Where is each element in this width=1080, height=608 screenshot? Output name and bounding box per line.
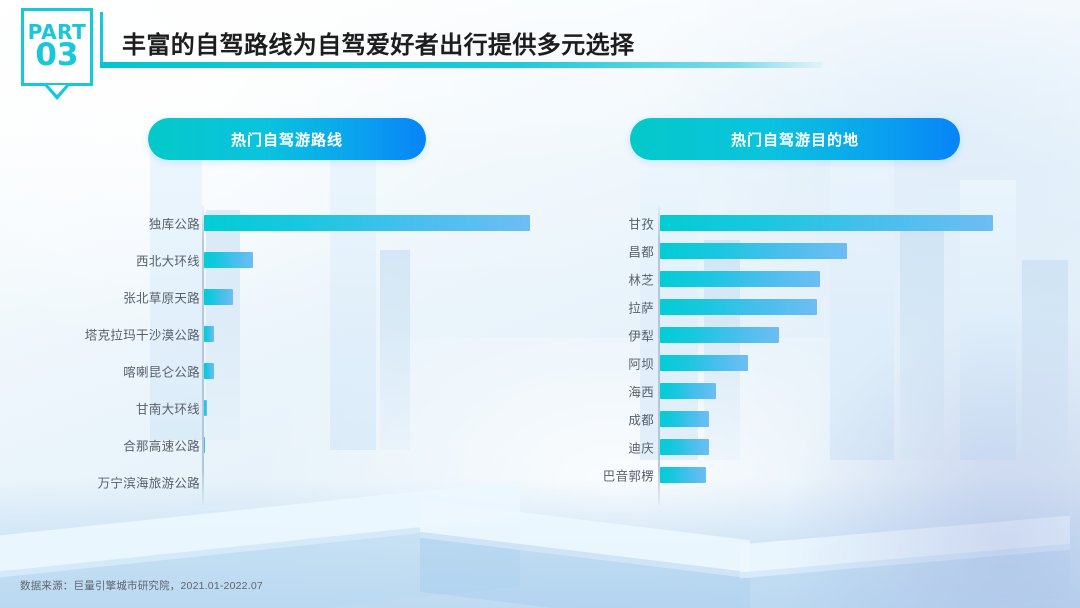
chart-row: 塔克拉玛干沙漠公路 xyxy=(60,326,540,342)
chart-row: 合那高速公路 xyxy=(60,437,540,453)
chart-row: 迪庆 xyxy=(558,439,1018,455)
chart-bar xyxy=(660,467,706,483)
chart-category-label: 甘孜 xyxy=(628,214,654,233)
chart-row: 甘孜 xyxy=(558,215,1018,231)
chart-row: 张北草原天路 xyxy=(60,289,540,305)
chart-bar xyxy=(204,400,207,416)
chart-bar xyxy=(660,383,716,399)
chart-row: 阿坝 xyxy=(558,355,1018,371)
part-badge-number: 03 xyxy=(35,40,78,71)
chart-category-label: 塔克拉玛干沙漠公路 xyxy=(85,325,200,344)
chart-bar xyxy=(660,355,748,371)
chart-bar xyxy=(204,289,233,305)
chart-row: 独库公路 xyxy=(60,215,540,231)
chart-popular-destinations: 甘孜昌都林芝拉萨伊犁阿坝海西成都迪庆巴音郭楞 xyxy=(558,205,1018,505)
chart-row: 成都 xyxy=(558,411,1018,427)
title-underline xyxy=(100,62,822,68)
chart-category-label: 拉萨 xyxy=(628,298,654,317)
chart-bar xyxy=(204,363,214,379)
chart-bar xyxy=(660,439,709,455)
section-header-destinations: 热门自驾游目的地 xyxy=(630,118,960,160)
chart-category-label: 巴音郭楞 xyxy=(603,466,654,485)
chart-category-label: 合那高速公路 xyxy=(123,436,200,455)
part-badge-pointer-inner-icon xyxy=(48,85,66,95)
chart-category-label: 昌都 xyxy=(628,242,654,261)
chart-category-label: 成都 xyxy=(628,410,654,429)
chart-bar xyxy=(660,271,820,287)
chart-category-label: 林芝 xyxy=(628,270,654,289)
chart-category-label: 万宁滨海旅游公路 xyxy=(98,473,200,492)
chart-bar xyxy=(204,252,253,268)
chart-axis-line xyxy=(202,205,204,505)
chart-row: 伊犁 xyxy=(558,327,1018,343)
chart-row: 拉萨 xyxy=(558,299,1018,315)
slide-canvas: PART 03 丰富的自驾路线为自驾爱好者出行提供多元选择 热门自驾游路线 热门… xyxy=(0,0,1080,608)
chart-bar xyxy=(660,243,847,259)
chart-row: 万宁滨海旅游公路 xyxy=(60,474,540,490)
chart-category-label: 海西 xyxy=(628,382,654,401)
chart-popular-routes: 独库公路西北大环线张北草原天路塔克拉玛干沙漠公路喀喇昆仑公路甘南大环线合那高速公… xyxy=(60,205,540,505)
chart-category-label: 甘南大环线 xyxy=(136,399,200,418)
chart-category-label: 喀喇昆仑公路 xyxy=(123,362,200,381)
chart-category-label: 独库公路 xyxy=(149,214,200,233)
title-left-rule xyxy=(100,12,103,64)
chart-row: 昌都 xyxy=(558,243,1018,259)
part-badge: PART 03 xyxy=(21,8,93,86)
page-title: 丰富的自驾路线为自驾爱好者出行提供多元选择 xyxy=(122,25,634,60)
data-source-note: 数据来源：巨量引擎城市研究院，2021.01-2022.07 xyxy=(20,578,263,593)
chart-row: 巴音郭楞 xyxy=(558,467,1018,483)
chart-category-label: 西北大环线 xyxy=(136,251,200,270)
section-header-routes: 热门自驾游路线 xyxy=(148,118,426,160)
chart-row: 喀喇昆仑公路 xyxy=(60,363,540,379)
chart-row: 海西 xyxy=(558,383,1018,399)
chart-bar xyxy=(660,299,817,315)
chart-bar xyxy=(204,215,530,231)
chart-bar xyxy=(204,437,205,453)
chart-category-label: 张北草原天路 xyxy=(123,288,200,307)
chart-category-label: 迪庆 xyxy=(628,438,654,457)
chart-bar xyxy=(660,411,709,427)
chart-row: 林芝 xyxy=(558,271,1018,287)
chart-row: 甘南大环线 xyxy=(60,400,540,416)
chart-category-label: 伊犁 xyxy=(628,326,654,345)
background-building xyxy=(1022,260,1068,460)
chart-row: 西北大环线 xyxy=(60,252,540,268)
chart-category-label: 阿坝 xyxy=(628,354,654,373)
chart-bar xyxy=(204,326,214,342)
chart-bar xyxy=(660,215,993,231)
chart-bar xyxy=(660,327,779,343)
